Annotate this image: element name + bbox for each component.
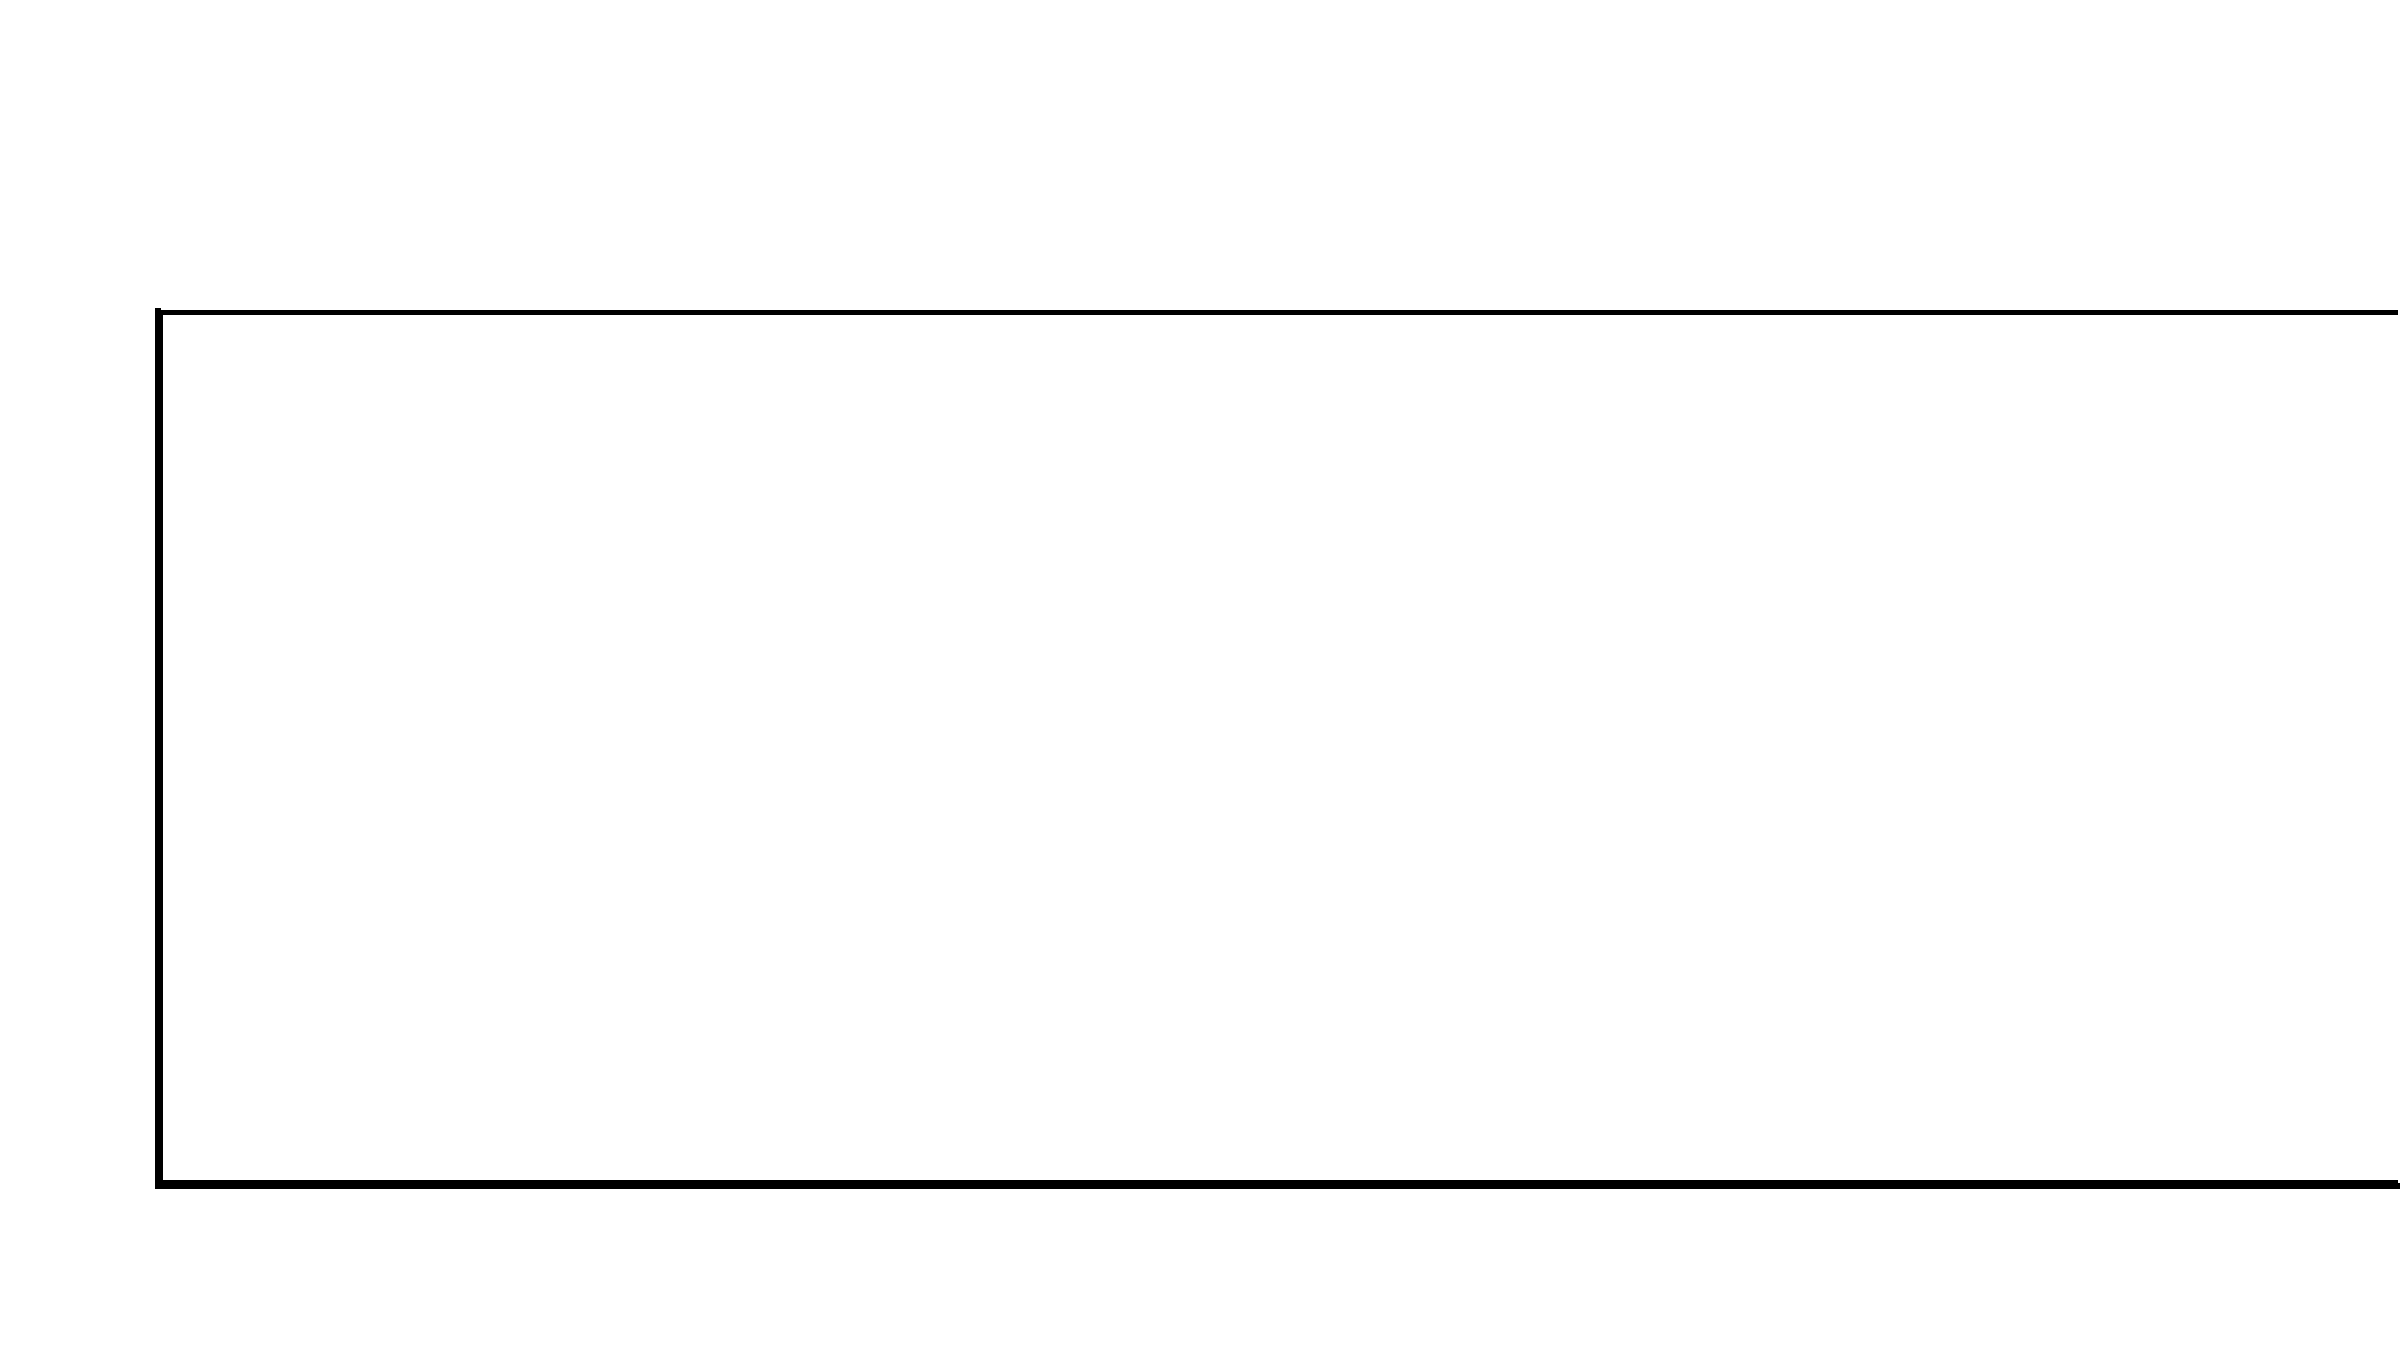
x-axis-line xyxy=(155,1183,2400,1189)
chart-root xyxy=(0,0,2400,1350)
plot-panel xyxy=(158,310,2398,1185)
y-axis xyxy=(0,0,158,1350)
